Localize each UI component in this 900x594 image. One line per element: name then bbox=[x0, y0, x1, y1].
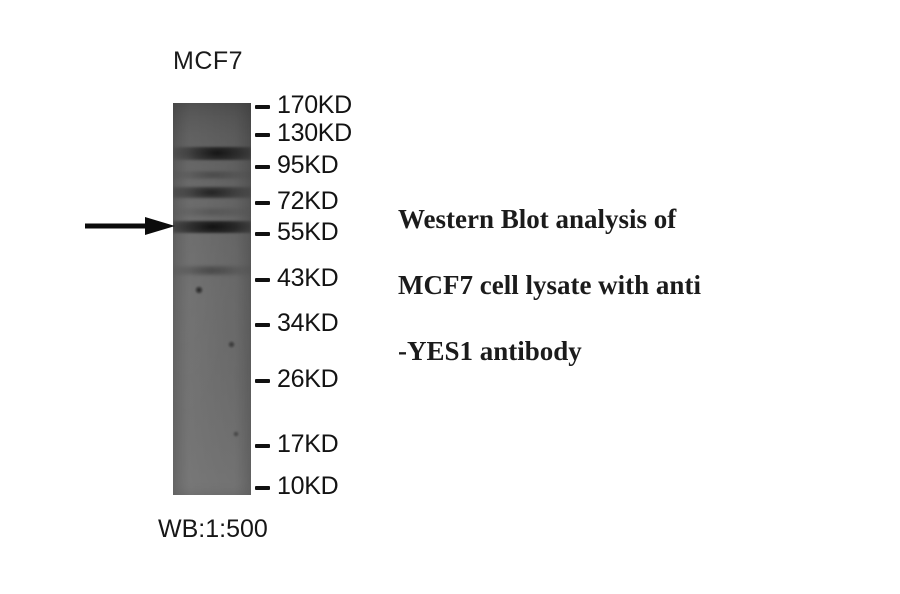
band-60kd bbox=[173, 208, 251, 216]
blot-speck bbox=[195, 286, 203, 294]
marker-tick-icon bbox=[255, 444, 270, 448]
marker-label: 55KD bbox=[277, 218, 338, 247]
marker-label: 72KD bbox=[277, 187, 338, 216]
marker-label: 170KD bbox=[277, 91, 352, 120]
marker-tick-icon bbox=[255, 278, 270, 282]
marker-label: 17KD bbox=[277, 430, 338, 459]
marker-label: 10KD bbox=[277, 472, 338, 501]
blot-lane bbox=[173, 103, 251, 495]
marker-tick-icon bbox=[255, 379, 270, 383]
marker-tick-icon bbox=[255, 232, 270, 236]
blot-speck bbox=[233, 431, 239, 437]
marker-label: 43KD bbox=[277, 264, 338, 293]
band-95kd bbox=[173, 147, 251, 160]
marker-tick-icon bbox=[255, 165, 270, 169]
band-43kd bbox=[173, 266, 251, 275]
figure-caption: Western Blot analysis of MCF7 cell lysat… bbox=[398, 186, 868, 384]
caption-line: Western Blot analysis of bbox=[398, 186, 868, 252]
western-blot-figure: MCF7 170KD 130KD 95KD 72KD 55KD 43KD 34 bbox=[0, 0, 900, 594]
marker-tick-icon bbox=[255, 105, 270, 109]
marker-tick-icon bbox=[255, 201, 270, 205]
lane-label-mcf7: MCF7 bbox=[173, 47, 243, 76]
marker-label: 95KD bbox=[277, 151, 338, 180]
marker-label: 130KD bbox=[277, 119, 352, 148]
band-85kd bbox=[173, 171, 251, 179]
band-72kd bbox=[173, 187, 251, 198]
caption-line: -YES1 antibody bbox=[398, 318, 868, 384]
dilution-label: WB:1:500 bbox=[158, 515, 268, 544]
marker-tick-icon bbox=[255, 486, 270, 490]
marker-tick-icon bbox=[255, 323, 270, 327]
marker-label: 26KD bbox=[277, 365, 338, 394]
marker-label: 34KD bbox=[277, 309, 338, 338]
caption-line: MCF7 cell lysate with anti bbox=[398, 252, 868, 318]
marker-tick-icon bbox=[255, 133, 270, 137]
blot-speck bbox=[228, 341, 235, 348]
band-55kd bbox=[173, 221, 251, 233]
right-arrow-icon bbox=[85, 217, 175, 235]
